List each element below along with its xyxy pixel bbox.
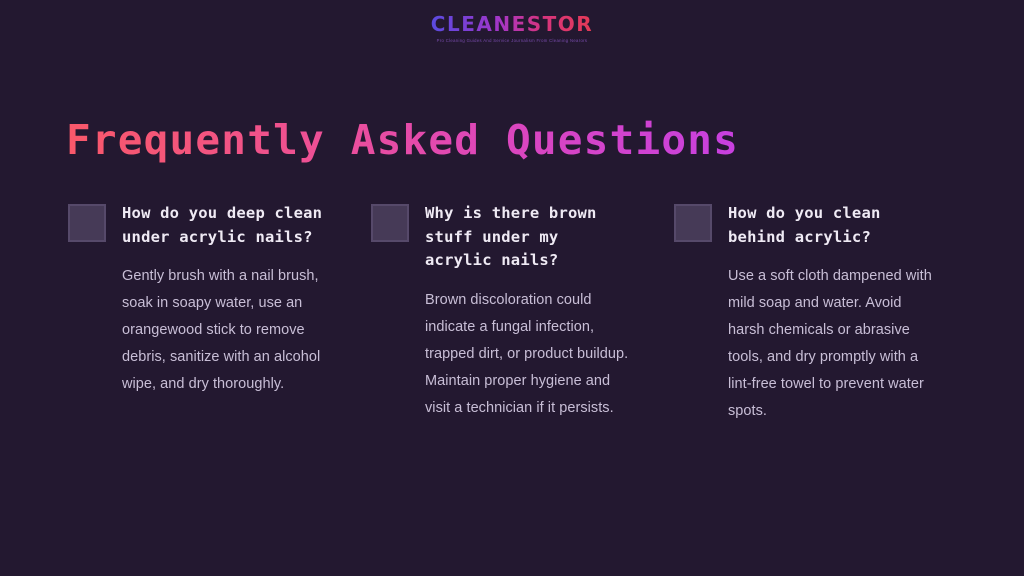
faq-header: How do you clean behind acrylic?	[674, 202, 937, 249]
faq-bullet-icon	[371, 204, 409, 242]
faq-header: Why is there brown stuff under my acryli…	[371, 202, 634, 273]
logo-tagline: Pro Cleaning Guides And Service Journali…	[437, 39, 588, 43]
faq-page: CLEANESTOR Pro Cleaning Guides And Servi…	[0, 0, 1024, 576]
faq-question: Why is there brown stuff under my acryli…	[425, 202, 634, 273]
faq-bullet-icon	[674, 204, 712, 242]
faq-list: How do you deep clean under acrylic nail…	[68, 202, 976, 425]
faq-header: How do you deep clean under acrylic nail…	[68, 202, 331, 249]
faq-bullet-icon	[68, 204, 106, 242]
faq-answer: Gently brush with a nail brush, soak in …	[122, 263, 331, 398]
faq-item: Why is there brown stuff under my acryli…	[371, 202, 674, 425]
faq-question: How do you deep clean under acrylic nail…	[122, 202, 331, 249]
faq-answer: Use a soft cloth dampened with mild soap…	[728, 263, 937, 425]
page-title: Frequently Asked Questions	[66, 118, 739, 163]
faq-answer: Brown discoloration could indicate a fun…	[425, 287, 634, 422]
site-header: CLEANESTOR Pro Cleaning Guides And Servi…	[0, 0, 1024, 58]
faq-item: How do you clean behind acrylic? Use a s…	[674, 202, 977, 425]
cleanestor-logo[interactable]: CLEANESTOR	[431, 14, 593, 34]
faq-question: How do you clean behind acrylic?	[728, 202, 937, 249]
faq-item: How do you deep clean under acrylic nail…	[68, 202, 371, 425]
